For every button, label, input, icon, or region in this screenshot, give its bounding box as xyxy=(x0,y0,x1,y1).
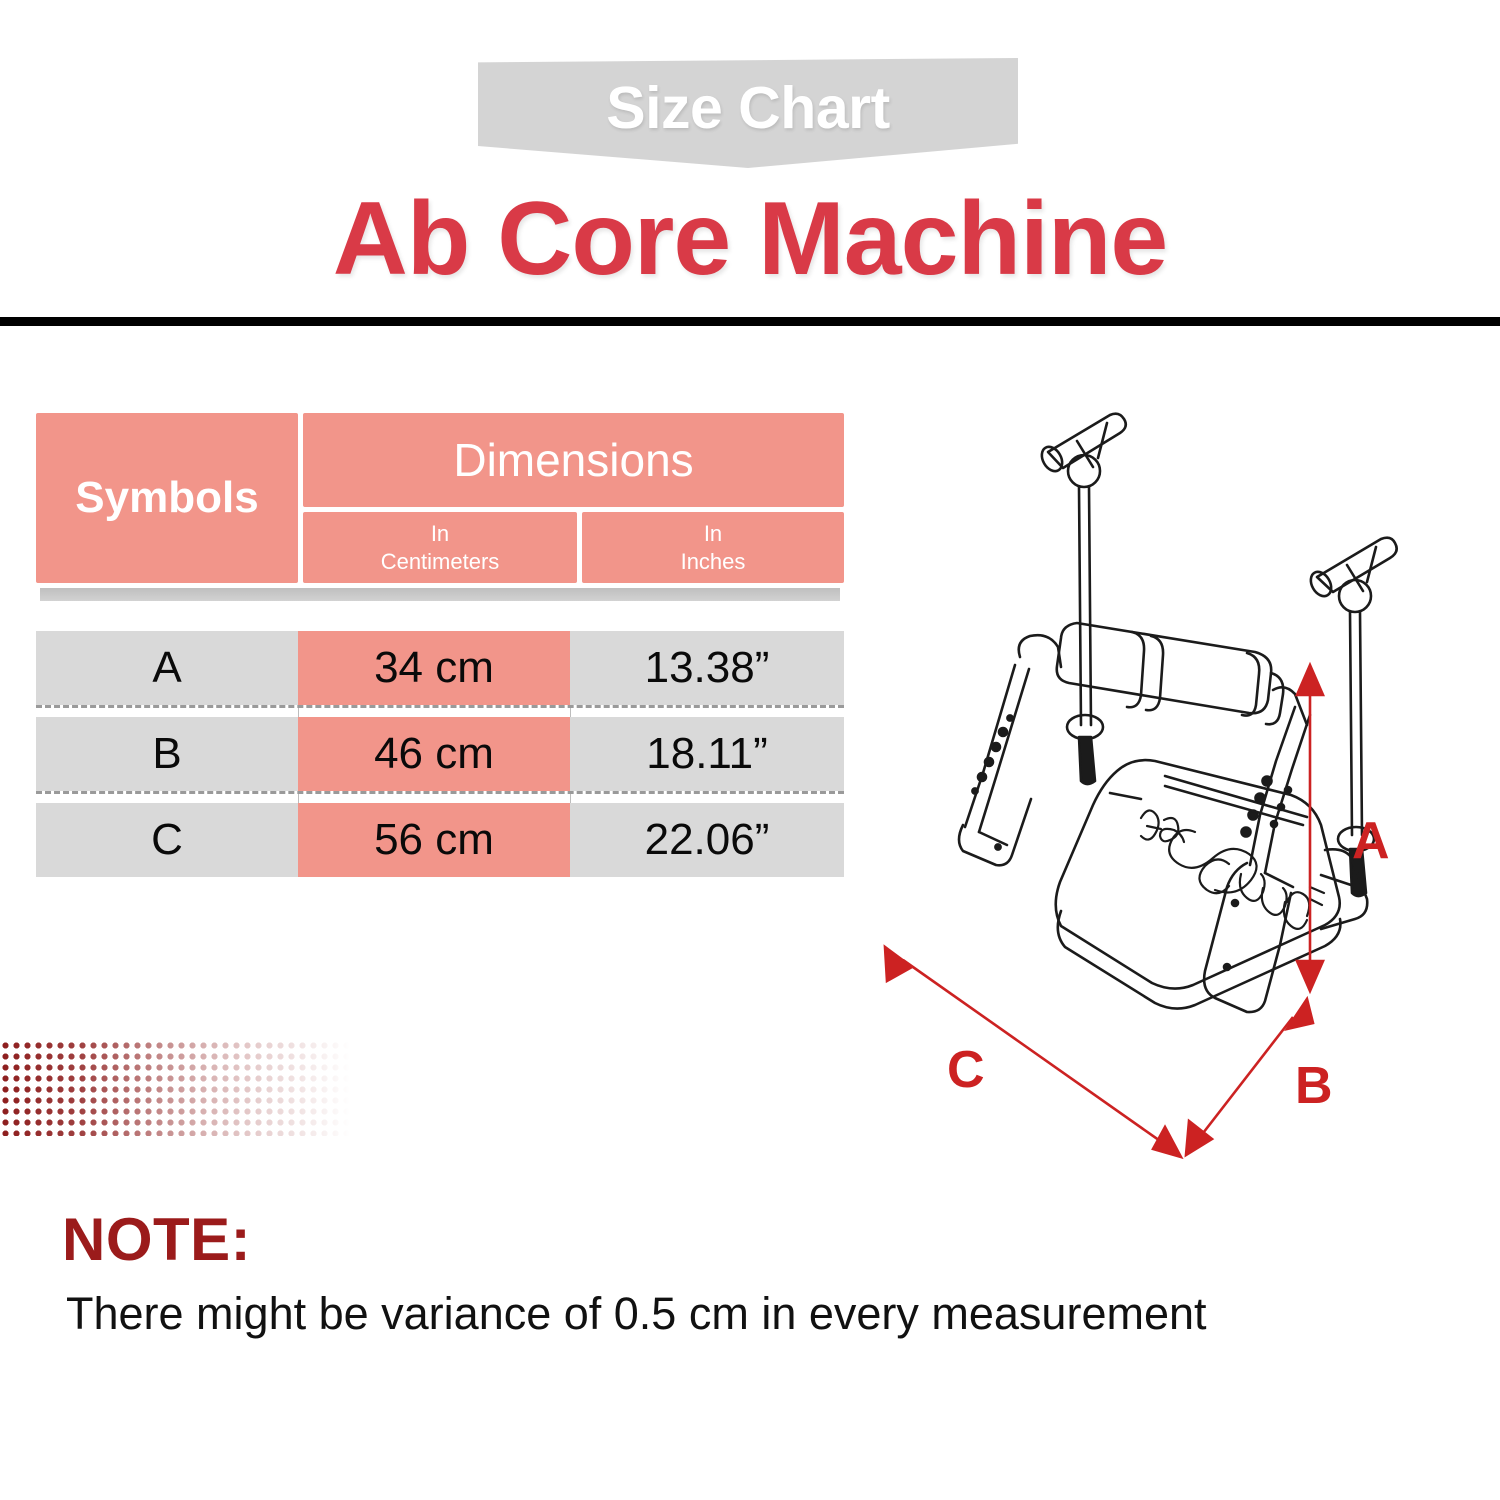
right-handle-icon xyxy=(1307,538,1397,612)
left-handle-icon xyxy=(1038,414,1126,487)
banner-label: Size Chart xyxy=(478,58,1018,168)
col-header-inches: In Inches xyxy=(582,512,844,583)
left-handle-post xyxy=(1079,487,1081,725)
note-text: There might be variance of 0.5 cm in eve… xyxy=(66,1288,1446,1340)
table-row: A 34 cm 13.38” xyxy=(36,631,844,705)
col-header-inches-line2: Inches xyxy=(681,549,746,574)
cell-inches: 22.06” xyxy=(570,803,844,877)
product-illustration: A B C xyxy=(855,395,1500,1185)
cell-symbol: B xyxy=(36,717,298,791)
dimension-arrow-a xyxy=(1297,665,1323,991)
cell-centimeters: 56 cm xyxy=(298,803,570,877)
row-separator-2 xyxy=(36,791,844,794)
note-label: NOTE: xyxy=(62,1205,251,1274)
size-table-body: A 34 cm 13.38” B 46 cm 18.11” C 56 cm 22… xyxy=(36,631,844,877)
table-head-row: Symbols Dimensions In Centimeters In Inc… xyxy=(36,413,844,583)
size-table-header: Symbols Dimensions In Centimeters In Inc… xyxy=(36,413,844,583)
dot-pattern-decoration xyxy=(0,1040,350,1136)
dimension-label-b: B xyxy=(1295,1057,1333,1115)
row-separator-1 xyxy=(36,705,844,708)
dimension-arrow-b xyxy=(1186,999,1313,1155)
size-chart-banner: Size Chart xyxy=(478,58,1018,168)
machine-line-art xyxy=(959,414,1397,1012)
cell-symbol: C xyxy=(36,803,298,877)
size-chart-page: Size Chart Ab Core Machine Symbols Dimen… xyxy=(0,0,1500,1500)
cell-symbol: A xyxy=(36,631,298,705)
cell-inches: 18.11” xyxy=(570,717,844,791)
col-header-centimeters-line1: In xyxy=(431,521,449,546)
frame-arch-left xyxy=(959,635,1061,865)
cell-centimeters: 46 cm xyxy=(298,717,570,791)
title-divider xyxy=(0,317,1500,326)
dimension-arrow-c xyxy=(885,947,1181,1157)
cell-centimeters: 34 cm xyxy=(298,631,570,705)
col-header-centimeters-line2: Centimeters xyxy=(381,549,500,574)
col-header-dimensions-group: Dimensions In Centimeters In Inches xyxy=(303,413,844,583)
col-header-inches-line1: In xyxy=(704,521,722,546)
col-header-dimensions: Dimensions xyxy=(303,413,844,507)
page-title: Ab Core Machine xyxy=(0,185,1500,294)
col-subheader-row: In Centimeters In Inches xyxy=(303,512,844,583)
dimension-label-a: A xyxy=(1352,812,1390,870)
dimension-label-c: C xyxy=(947,1041,985,1099)
cell-inches: 13.38” xyxy=(570,631,844,705)
table-row: C 56 cm 22.06” xyxy=(36,803,844,877)
right-handle-post xyxy=(1350,612,1352,835)
col-header-centimeters: In Centimeters xyxy=(303,512,577,583)
col-header-symbols: Symbols xyxy=(36,413,298,583)
frame-arch-right xyxy=(1204,687,1310,1012)
seat-pad xyxy=(1056,760,1341,1008)
product-logo xyxy=(1141,810,1324,928)
table-row: B 46 cm 18.11” xyxy=(36,717,844,791)
post-mount-left xyxy=(1067,715,1103,784)
table-header-shadow xyxy=(40,588,840,601)
